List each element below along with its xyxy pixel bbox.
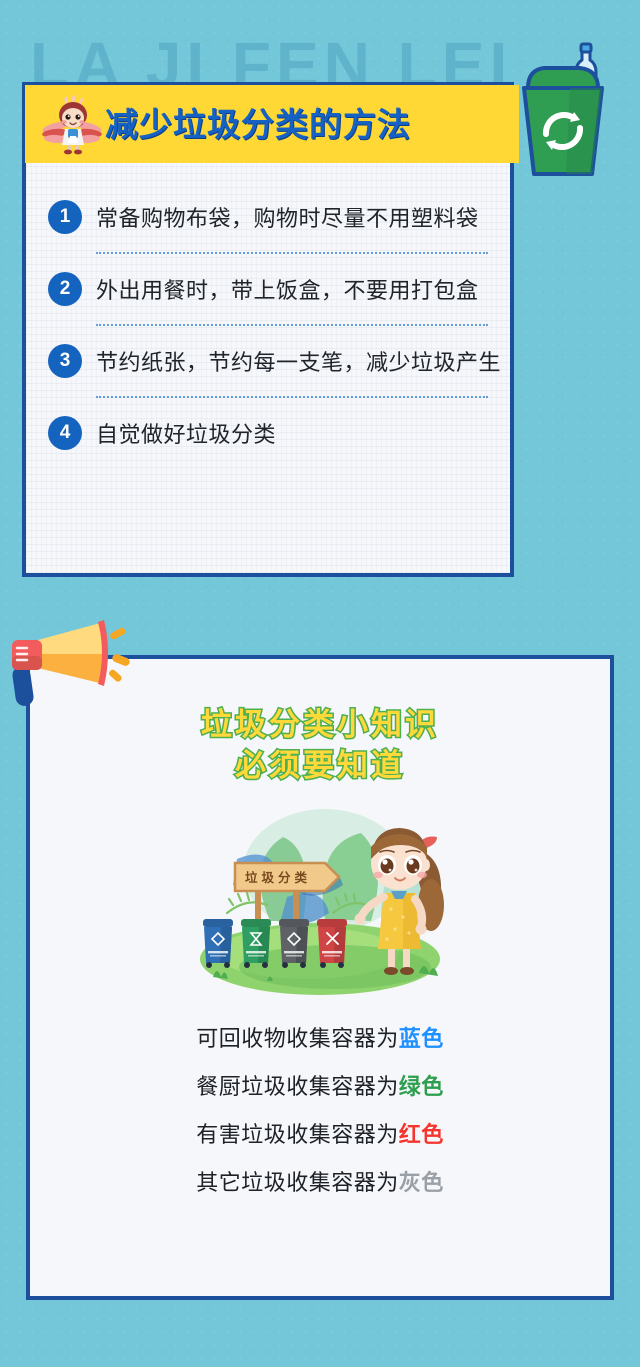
tip-separator — [96, 252, 488, 254]
tip-row: 4 自觉做好垃圾分类 — [48, 405, 488, 461]
color-keyword-red: 红色 — [399, 1122, 444, 1147]
card1-header: 减少垃圾分类的方法 — [25, 85, 519, 163]
tip-text: 常备购物布袋，购物时尽量不用塑料袋 — [96, 201, 479, 233]
color-line: 其它垃圾收集容器为灰色 — [30, 1159, 610, 1207]
tip-number-badge: 2 — [48, 272, 82, 306]
tip-number-badge: 4 — [48, 416, 82, 450]
hazardous-waste-bin — [317, 919, 347, 968]
tip-number-badge: 3 — [48, 344, 82, 378]
tip-text: 自觉做好垃圾分类 — [96, 417, 276, 449]
color-line-prefix: 可回收物收集容器为 — [196, 1026, 399, 1051]
card1-body: 1 常备购物布袋，购物时尽量不用塑料袋 2 外出用餐时，带上饭盒，不要用打包盒 … — [26, 163, 510, 573]
card2-title-line2: 必须要知道 — [30, 746, 610, 787]
megaphone-icon — [8, 618, 130, 704]
tip-text: 外出用餐时，带上饭盒，不要用打包盒 — [96, 273, 479, 305]
tip-separator — [96, 396, 488, 398]
color-keyword-gray: 灰色 — [399, 1170, 444, 1195]
girl-with-recycling-bins-illustration: 垃圾分类 — [175, 801, 465, 1001]
color-line: 有害垃圾收集容器为红色 — [30, 1111, 610, 1159]
knowledge-card: 垃圾分类小知识 必须要知道 — [26, 655, 614, 1300]
color-line-prefix: 有害垃圾收集容器为 — [196, 1122, 399, 1147]
color-keyword-green: 绿色 — [399, 1074, 444, 1099]
card2-title: 垃圾分类小知识 必须要知道 — [30, 705, 610, 787]
recyclable-bin — [203, 919, 233, 968]
mascot-character-icon — [43, 93, 101, 155]
color-line: 可回收物收集容器为蓝色 — [30, 1015, 610, 1063]
card2-title-line1: 垃圾分类小知识 — [30, 705, 610, 746]
tip-row: 2 外出用餐时，带上饭盒，不要用打包盒 — [48, 261, 488, 317]
tip-separator — [96, 324, 488, 326]
reduce-waste-card: 减少垃圾分类的方法 1 常备购物布袋，购物时尽量不用塑料袋 2 外出用餐时，带上… — [22, 82, 514, 577]
tip-number-badge: 1 — [48, 200, 82, 234]
color-legend-list: 可回收物收集容器为蓝色 餐厨垃圾收集容器为绿色 有害垃圾收集容器为红色 其它垃圾… — [30, 1015, 610, 1207]
tip-row: 1 常备购物布袋，购物时尽量不用塑料袋 — [48, 189, 488, 245]
color-line: 餐厨垃圾收集容器为绿色 — [30, 1063, 610, 1111]
color-keyword-blue: 蓝色 — [399, 1026, 444, 1051]
green-recycle-bin-icon — [510, 42, 614, 182]
kitchen-waste-bin — [241, 919, 271, 968]
color-line-prefix: 其它垃圾收集容器为 — [196, 1170, 399, 1195]
tip-text: 节约纸张，节约每一支笔，减少垃圾产生 — [96, 345, 501, 377]
sign-text: 垃圾分类 — [245, 870, 311, 885]
tip-row: 3 节约纸张，节约每一支笔，减少垃圾产生 — [48, 333, 488, 389]
color-line-prefix: 餐厨垃圾收集容器为 — [196, 1074, 399, 1099]
card1-title: 减少垃圾分类的方法 — [105, 108, 411, 141]
other-waste-bin — [279, 919, 309, 968]
